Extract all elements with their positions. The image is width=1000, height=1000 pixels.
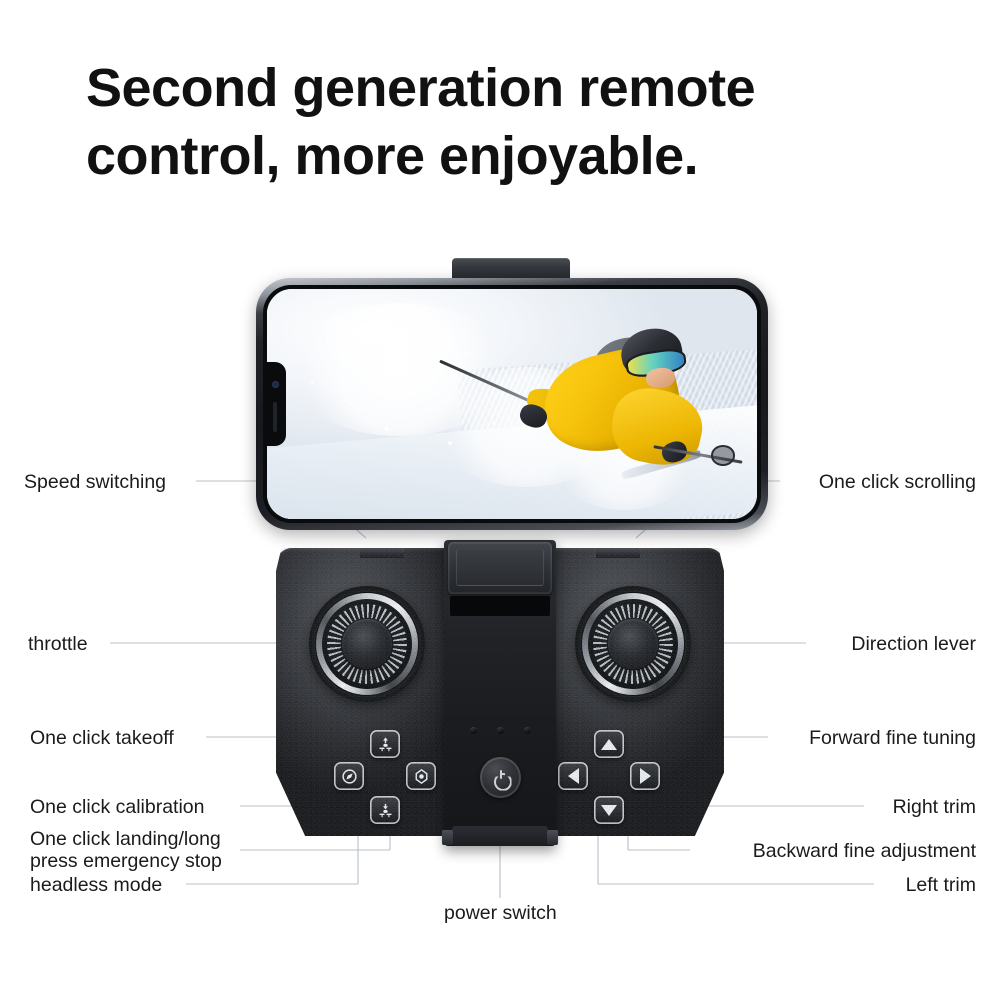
- one-click-takeoff-button[interactable]: [370, 730, 400, 758]
- bracket-slot: [450, 596, 550, 616]
- infographic-canvas: Second generation remote control, more e…: [0, 0, 1000, 1000]
- power-switch-button[interactable]: [480, 757, 521, 798]
- label-right-trim: Right trim: [893, 796, 976, 819]
- bracket-inner-panel: [456, 549, 544, 586]
- triangle-down-icon: [601, 805, 617, 816]
- joystick-knurl: [611, 622, 655, 666]
- drone-takeoff-icon: [377, 736, 394, 753]
- earpiece-speaker: [273, 402, 277, 432]
- skier-figure: [522, 317, 747, 501]
- page-title: Second generation remote control, more e…: [86, 54, 926, 190]
- drone-landing-icon: [377, 802, 394, 819]
- status-led-1: [470, 727, 477, 734]
- label-power-switch: power switch: [444, 902, 557, 925]
- phone-holder-bracket: [448, 542, 552, 594]
- label-throttle: throttle: [28, 633, 88, 656]
- label-one-click-calibration: One click calibration: [30, 796, 205, 819]
- speed-switching-button[interactable]: [360, 546, 404, 558]
- triangle-left-icon: [568, 768, 579, 784]
- page-title-line-1: Second generation remote: [86, 58, 755, 118]
- snow-spray: [429, 390, 433, 394]
- throttle-joystick[interactable]: [309, 586, 425, 702]
- one-click-calibration-button[interactable]: [406, 762, 436, 790]
- headless-mode-button[interactable]: [334, 762, 364, 790]
- smartphone: [256, 278, 768, 530]
- backward-fine-adjustment-button[interactable]: [594, 796, 624, 824]
- ski-pole-basket: [711, 445, 735, 466]
- snow-spray: [385, 427, 389, 431]
- remote-controller: [276, 540, 724, 850]
- front-camera-icon: [273, 382, 278, 387]
- label-one-click-scrolling: One click scrolling: [819, 471, 976, 494]
- phone-notch: [267, 362, 286, 446]
- page-title-line-2: control, more enjoyable.: [86, 122, 926, 190]
- target-icon: [413, 768, 430, 785]
- bracket-foot-peg-left: [442, 830, 453, 845]
- snow-spray: [326, 340, 330, 344]
- one-click-landing-button[interactable]: [370, 796, 400, 824]
- label-headless-mode: headless mode: [30, 874, 162, 897]
- joystick-knurl: [345, 622, 389, 666]
- label-one-click-landing: One click landing/long press emergency s…: [30, 829, 235, 873]
- compass-icon: [341, 768, 358, 785]
- status-led-2: [497, 727, 504, 734]
- controller-right-wing: [542, 548, 724, 836]
- right-trim-button[interactable]: [630, 762, 660, 790]
- triangle-right-icon: [640, 768, 651, 784]
- label-forward-fine-tuning: Forward fine tuning: [809, 727, 976, 750]
- left-trim-button[interactable]: [558, 762, 588, 790]
- triangle-up-icon: [601, 739, 617, 750]
- label-one-click-takeoff: One click takeoff: [30, 727, 174, 750]
- power-icon: [493, 770, 509, 786]
- bracket-foot-peg-right: [547, 830, 558, 845]
- label-direction-lever: Direction lever: [851, 633, 976, 656]
- phone-screen[interactable]: [267, 289, 757, 519]
- phone-bezel: [263, 285, 761, 523]
- forward-fine-tuning-button[interactable]: [594, 730, 624, 758]
- snow-spray: [468, 351, 471, 354]
- label-backward-fine-adjustment: Backward fine adjustment: [753, 840, 976, 863]
- one-click-scrolling-button[interactable]: [596, 546, 640, 558]
- label-speed-switching: Speed switching: [24, 471, 166, 494]
- direction-joystick[interactable]: [575, 586, 691, 702]
- label-left-trim: Left trim: [906, 874, 976, 897]
- controller-left-wing: [276, 548, 458, 836]
- status-led-3: [524, 727, 531, 734]
- bracket-foot: [452, 826, 548, 846]
